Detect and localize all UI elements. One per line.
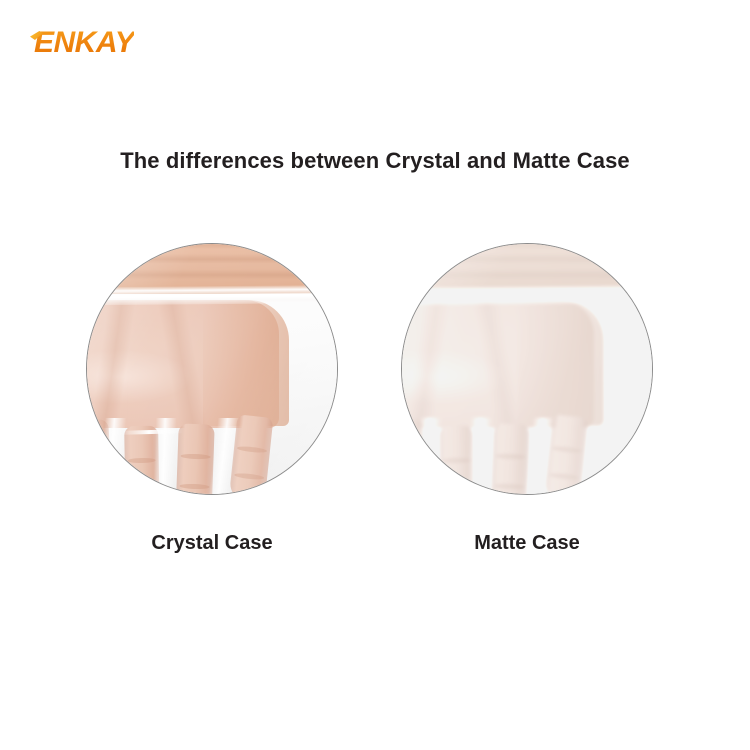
- comparison-panel-matte: Matte Case: [401, 243, 657, 495]
- glass-sheen: [401, 243, 653, 495]
- crystal-case-photo: [86, 243, 338, 495]
- hand-through-crystal-case-scene: [86, 243, 338, 495]
- hand-through-matte-case-scene: [401, 243, 653, 495]
- page-title: The differences between Crystal and Matt…: [0, 148, 750, 174]
- brand-logo-text: ENKAY: [34, 26, 134, 59]
- caption-crystal-case: Crystal Case: [86, 532, 338, 555]
- brand-logo: ENKAY: [34, 28, 134, 58]
- glass-sheen: [86, 243, 338, 495]
- caption-matte-case: Matte Case: [401, 532, 653, 555]
- product-comparison-page: ENKAY The differences between Crystal an…: [0, 0, 750, 750]
- brand-logo-mark: ENKAY: [34, 28, 134, 58]
- matte-case-photo: [401, 243, 653, 495]
- comparison-section: Crystal Case: [0, 243, 750, 583]
- comparison-panel-crystal: Crystal Case: [86, 243, 342, 495]
